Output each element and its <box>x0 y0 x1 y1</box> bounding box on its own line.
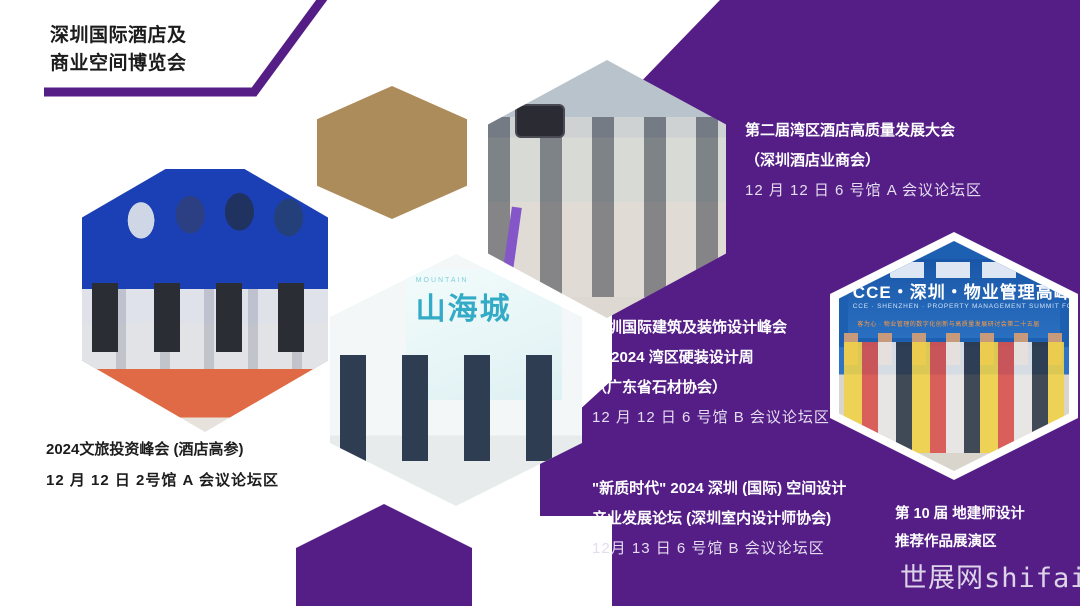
event-date: 12 月 12 日 2号馆 A 会议论坛区 <box>46 465 279 496</box>
event-title-line-1: 第 10 届 地建师设计 <box>895 500 1025 528</box>
site-watermark: 世展网shifair. <box>900 556 1080 595</box>
photo-people <box>92 283 318 352</box>
event-tenth-designer-exhibition: 第 10 届 地建师设计 推荐作品展演区 <box>895 500 1025 556</box>
event-architecture-summit: 深圳国际建筑及装饰设计峰会 暨 2024 湾区硬装设计周 （广东省石材协会） 1… <box>592 313 830 433</box>
photo-hex-panel-discussion <box>82 146 328 432</box>
photo-cce-subtitle: CCE · SHENZHEN · PROPERTY MANAGEMENT SUM… <box>853 303 1069 310</box>
event-space-design-forum: "新质时代" 2024 深圳 (国际) 空间设计 产业发展论坛 (深圳室内设计师… <box>592 474 846 564</box>
event-title-line-1: 深圳国际建筑及装饰设计峰会 <box>592 313 830 343</box>
photo-backdrop-cn-title: 山海城 <box>416 284 512 328</box>
purple-hexagon-decoration <box>296 504 472 606</box>
gold-hexagon-decoration <box>317 86 467 219</box>
poster-canvas: 深圳国际酒店及 商业空间博览会 MOUNTAIN 山海城 <box>0 0 1080 606</box>
event-date: 12 月 12 日 6 号馆 A 会议论坛区 <box>745 176 982 206</box>
page-title: 深圳国际酒店及 商业空间博览会 <box>50 22 187 77</box>
event-title-line-3: （广东省石材协会） <box>592 373 830 403</box>
photo-crowd <box>488 117 726 298</box>
photo-smartphone <box>517 106 563 136</box>
event-bay-hotel-summit: 第二届湾区酒店高质量发展大会 （深圳酒店业商会） 12 月 12 日 6 号馆 … <box>745 116 982 206</box>
event-title-line-2: 暨 2024 湾区硬装设计周 <box>592 343 830 373</box>
photo-people <box>340 355 572 461</box>
event-title-line-1: "新质时代" 2024 深圳 (国际) 空间设计 <box>592 474 846 504</box>
photo-backdrop-en-title: MOUNTAIN <box>416 277 469 284</box>
event-title-line-1: 第二届湾区酒店高质量发展大会 <box>745 116 982 146</box>
photo-cce-subtitle-2: 客为心 · 物业管理的数字化创新与高质量发展研讨会第二十五届 <box>857 319 1039 328</box>
event-tourism-investment-summit: 2024文旅投资峰会 (酒店高参) 12 月 12 日 2号馆 A 会议论坛区 <box>46 434 279 496</box>
event-title-line-1: 2024文旅投资峰会 (酒店高参) <box>46 434 279 465</box>
event-title-line-2: 产业发展论坛 (深圳室内设计师协会) <box>592 504 846 534</box>
event-date: 12 月 12 日 6 号馆 B 会议论坛区 <box>592 403 830 433</box>
event-date: 12月 13 日 6 号馆 B 会议论坛区 <box>592 534 846 564</box>
event-title-line-2: （深圳酒店业商会） <box>745 146 982 176</box>
event-title-line-2: 推荐作品展演区 <box>895 528 1025 556</box>
photo-sponsor-logos <box>890 262 1019 278</box>
